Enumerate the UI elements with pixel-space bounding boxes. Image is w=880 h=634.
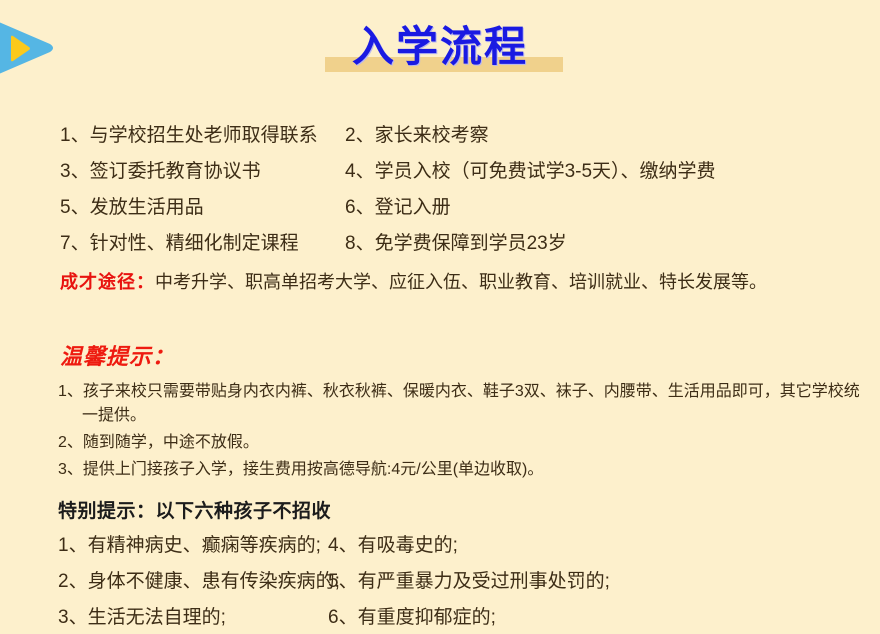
step-row: 7、针对性、精细化制定课程 8、免学费保障到学员23岁: [0, 226, 880, 262]
exclusion-item-3: 3、生活无法自理的;: [0, 600, 328, 634]
step-item-7: 7、针对性、精细化制定课程: [0, 226, 345, 262]
exclusion-item-4: 4、有吸毒史的;: [328, 528, 458, 564]
step-item-8: 8、免学费保障到学员23岁: [345, 226, 567, 262]
exclusion-row: 3、生活无法自理的; 6、有重度抑郁症的;: [0, 600, 880, 634]
exclusion-row: 1、有精神病史、癫痫等疾病的; 4、有吸毒史的;: [0, 528, 880, 564]
tip-item-3: 3、提供上门接孩子入学，接生费用按高德导航:4元/公里(单边收取)。: [58, 458, 868, 482]
step-item-4: 4、学员入校（可免费试学3-5天）、缴纳学费: [345, 154, 716, 190]
exclusion-item-6: 6、有重度抑郁症的;: [328, 600, 496, 634]
step-row: 3、签订委托教育协议书 4、学员入校（可免费试学3-5天）、缴纳学费: [0, 154, 880, 190]
exclusion-row: 2、身体不健康、患有传染疾病的; 5、有严重暴力及受过刑事处罚的;: [0, 564, 880, 600]
exclusion-item-1: 1、有精神病史、癫痫等疾病的;: [0, 528, 328, 564]
step-item-3: 3、签订委托教育协议书: [0, 154, 345, 190]
tip-item-1: 1、孩子来校只需要带贴身内衣内裤、秋衣秋裤、保暖内衣、鞋子3双、袜子、内腰带、生…: [58, 380, 868, 428]
step-item-6: 6、登记入册: [345, 190, 451, 226]
warm-tips-heading: 温馨提示：: [60, 339, 175, 371]
tip-item-2: 2、随到随学，中途不放假。: [58, 431, 868, 455]
career-path-line: 成才途径：中考升学、职高单招考大学、应征入伍、职业教育、培训就业、特长发展等。: [60, 268, 767, 294]
step-item-5: 5、发放生活用品: [0, 190, 345, 226]
step-item-2: 2、家长来校考察: [345, 118, 489, 154]
exclusion-item-5: 5、有严重暴力及受过刑事处罚的;: [328, 564, 610, 600]
header: 入学流程: [0, 0, 880, 108]
page-title: 入学流程: [0, 13, 880, 74]
enrollment-steps-list: 1、与学校招生处老师取得联系 2、家长来校考察 3、签订委托教育协议书 4、学员…: [0, 118, 880, 262]
career-path-label: 成才途径：: [60, 272, 155, 292]
special-notice-heading: 特别提示：以下六种孩子不招收: [58, 496, 331, 523]
exclusion-list: 1、有精神病史、癫痫等疾病的; 4、有吸毒史的; 2、身体不健康、患有传染疾病的…: [0, 528, 880, 634]
step-row: 1、与学校招生处老师取得联系 2、家长来校考察: [0, 118, 880, 154]
warm-tips-list: 1、孩子来校只需要带贴身内衣内裤、秋衣秋裤、保暖内衣、鞋子3双、袜子、内腰带、生…: [58, 380, 868, 485]
step-item-1: 1、与学校招生处老师取得联系: [0, 118, 345, 154]
step-row: 5、发放生活用品 6、登记入册: [0, 190, 880, 226]
poster-root: 入学流程 1、与学校招生处老师取得联系 2、家长来校考察 3、签订委托教育协议书…: [0, 0, 880, 634]
exclusion-item-2: 2、身体不健康、患有传染疾病的;: [0, 564, 328, 600]
career-path-text: 中考升学、职高单招考大学、应征入伍、职业教育、培训就业、特长发展等。: [155, 272, 767, 292]
